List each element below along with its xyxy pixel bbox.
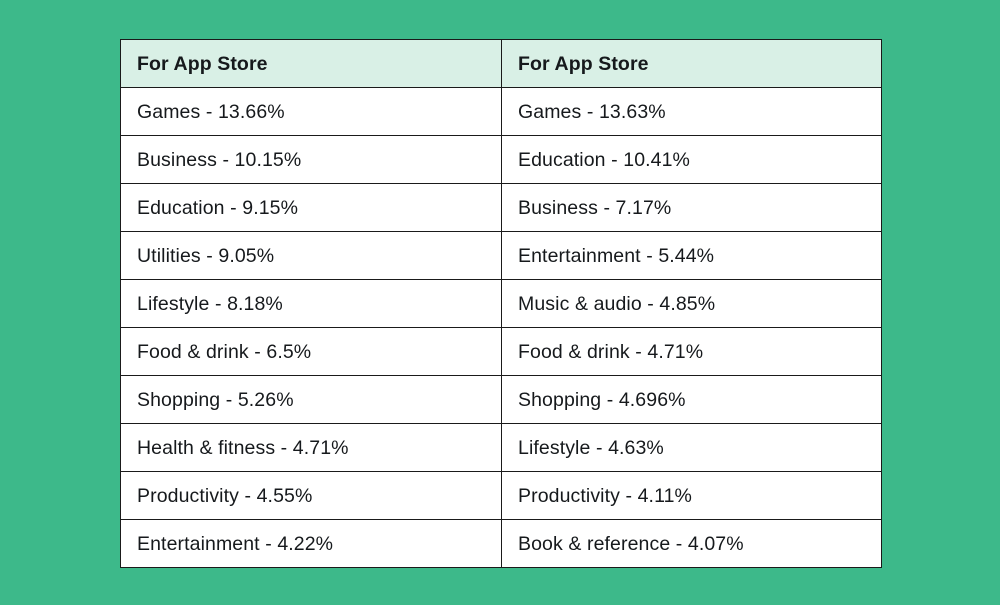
cell-left: Utilities - 9.05% — [121, 232, 502, 280]
cell-left: Health & fitness - 4.71% — [121, 424, 502, 472]
cell-left: Lifestyle - 8.18% — [121, 280, 502, 328]
column-header-right: For App Store — [502, 40, 882, 88]
table-body: Games - 13.66% Games - 13.63% Business -… — [121, 88, 882, 568]
column-header-left: For App Store — [121, 40, 502, 88]
table-container: For App Store For App Store Games - 13.6… — [120, 39, 881, 568]
cell-right: Productivity - 4.11% — [502, 472, 882, 520]
table-row: Productivity - 4.55% Productivity - 4.11… — [121, 472, 882, 520]
page-root: For App Store For App Store Games - 13.6… — [0, 0, 1000, 605]
cell-left: Education - 9.15% — [121, 184, 502, 232]
cell-left: Food & drink - 6.5% — [121, 328, 502, 376]
table-row: Lifestyle - 8.18% Music & audio - 4.85% — [121, 280, 882, 328]
cell-left: Shopping - 5.26% — [121, 376, 502, 424]
table-row: Food & drink - 6.5% Food & drink - 4.71% — [121, 328, 882, 376]
cell-right: Education - 10.41% — [502, 136, 882, 184]
cell-right: Games - 13.63% — [502, 88, 882, 136]
cell-right: Shopping - 4.696% — [502, 376, 882, 424]
cell-right: Business - 7.17% — [502, 184, 882, 232]
cell-left: Entertainment - 4.22% — [121, 520, 502, 568]
cell-right: Food & drink - 4.71% — [502, 328, 882, 376]
table-row: Utilities - 9.05% Entertainment - 5.44% — [121, 232, 882, 280]
cell-right: Music & audio - 4.85% — [502, 280, 882, 328]
cell-right: Lifestyle - 4.63% — [502, 424, 882, 472]
table-row: Business - 10.15% Education - 10.41% — [121, 136, 882, 184]
table-header-row: For App Store For App Store — [121, 40, 882, 88]
table-row: Games - 13.66% Games - 13.63% — [121, 88, 882, 136]
table-row: Education - 9.15% Business - 7.17% — [121, 184, 882, 232]
table-header: For App Store For App Store — [121, 40, 882, 88]
cell-right: Book & reference - 4.07% — [502, 520, 882, 568]
app-category-table: For App Store For App Store Games - 13.6… — [120, 39, 882, 568]
table-row: Health & fitness - 4.71% Lifestyle - 4.6… — [121, 424, 882, 472]
cell-left: Business - 10.15% — [121, 136, 502, 184]
table-row: Entertainment - 4.22% Book & reference -… — [121, 520, 882, 568]
cell-right: Entertainment - 5.44% — [502, 232, 882, 280]
cell-left: Games - 13.66% — [121, 88, 502, 136]
cell-left: Productivity - 4.55% — [121, 472, 502, 520]
table-row: Shopping - 5.26% Shopping - 4.696% — [121, 376, 882, 424]
